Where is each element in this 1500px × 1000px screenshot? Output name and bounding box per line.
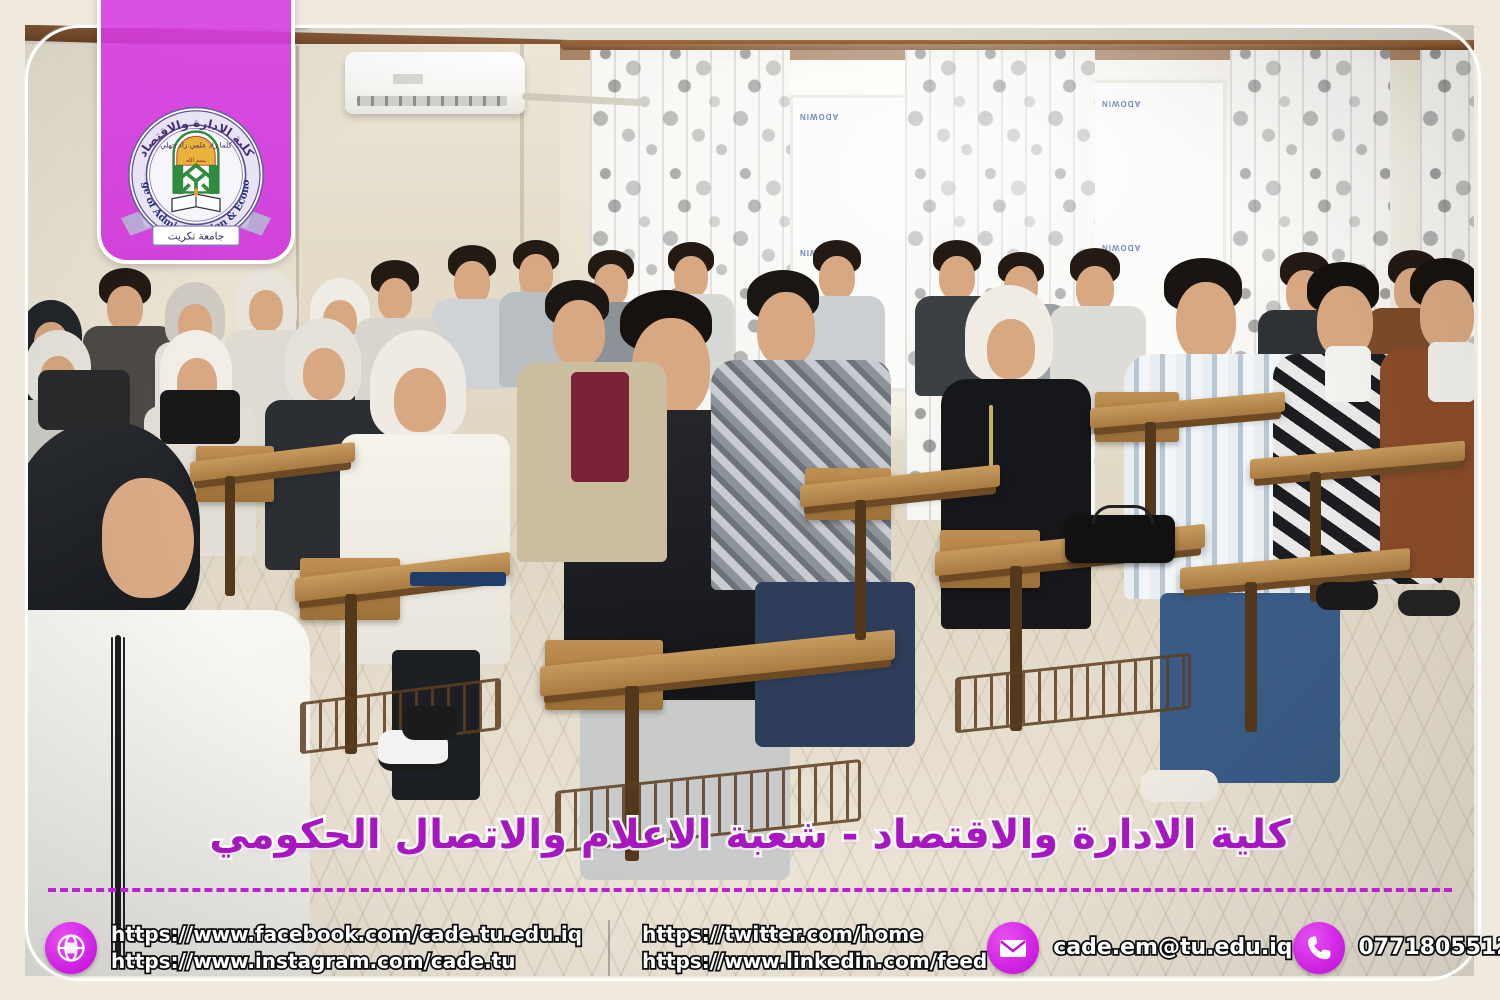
phone-on-desk [410,572,506,586]
desk-leg [855,500,866,640]
bag-on-chair [38,370,130,430]
curtain-rod [560,40,1500,50]
footer-group-email: cade.em@tu.edu.iq [987,922,1292,974]
shoe [1140,770,1218,802]
shoe [1398,590,1460,616]
twitter-url[interactable]: https://twitter.com/home [642,921,987,948]
social-links-2: https://twitter.com/home https://www.lin… [642,921,987,975]
title-block: كلية الادارة والاقتصاد - شعبة الاعلام وا… [0,812,1500,859]
instagram-url[interactable]: https://www.instagram.com/cade.tu [111,948,582,975]
globe-icon[interactable] [45,922,97,974]
svg-text:جامعة تكريت: جامعة تكريت [168,231,225,243]
footer-group-phone: 07718055128 [1293,922,1500,974]
logo-banner: كلية الادارة والاقتصاد College of Admini… [97,0,295,264]
page-title: كلية الادارة والاقتصاد - شعبة الاعلام وا… [70,812,1430,859]
email-lines: cade.em@tu.edu.iq [1053,933,1292,963]
email-address[interactable]: cade.em@tu.edu.iq [1053,933,1292,963]
handbag-strap [1092,505,1154,524]
handbag-left-desk [160,390,240,444]
phone-icon[interactable] [1293,922,1345,974]
phone-lines: 07718055128 [1359,933,1500,963]
air-conditioner-icon [345,52,525,114]
footer-group-social: https://www.facebook.com/cade.tu.edu.iq … [45,921,582,975]
social-links: https://www.facebook.com/cade.tu.edu.iq … [111,921,582,975]
shoe [1316,582,1378,610]
dashed-divider [48,888,1452,892]
college-crest-logo: كلية الادارة والاقتصاد College of Admini… [116,98,276,258]
svg-text:كلما زاد علمي زاد جهلي: كلما زاد علمي زاد جهلي [160,141,232,150]
linkedin-url[interactable]: https://www.linkedin.com/feed [642,948,987,975]
footer-group-social-2: https://twitter.com/home https://www.lin… [628,921,987,975]
footer-divider [608,920,610,976]
desk-leg [1245,582,1257,732]
poster-canvas: ADOWIN ADOWIN ADOWIN ADOWIN [0,0,1500,1000]
envelope-icon[interactable] [987,922,1039,974]
desk-leg [225,476,235,596]
phone-number[interactable]: 07718055128 [1359,933,1500,963]
shoe [402,706,458,740]
footer-contact-bar: https://www.facebook.com/cade.tu.edu.iq … [45,905,1455,990]
facebook-url[interactable]: https://www.facebook.com/cade.tu.edu.iq [111,921,582,948]
